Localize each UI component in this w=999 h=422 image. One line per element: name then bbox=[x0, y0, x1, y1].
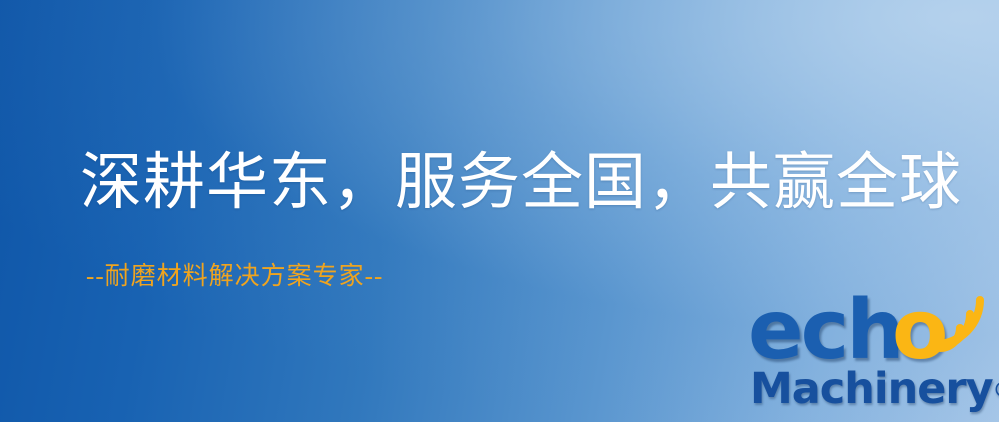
logo-brand-row: ech o bbox=[748, 296, 999, 374]
promo-banner: 深耕华东，服务全国，共赢全球 --耐磨材料解决方案专家-- ech o Mach… bbox=[0, 0, 999, 422]
company-logo[interactable]: ech o Machinery® bbox=[748, 296, 999, 422]
logo-wordmark-text: Machinery bbox=[750, 364, 993, 414]
page-title: 深耕华东，服务全国，共赢全球 bbox=[80, 152, 962, 214]
logo-brand-text: ech bbox=[748, 290, 902, 372]
registered-trademark-icon: ® bbox=[993, 378, 999, 402]
logo-wordmark: Machinery® bbox=[750, 368, 999, 412]
signal-waves-icon bbox=[932, 292, 998, 354]
page-subtitle: --耐磨材料解决方案专家-- bbox=[86, 264, 383, 289]
